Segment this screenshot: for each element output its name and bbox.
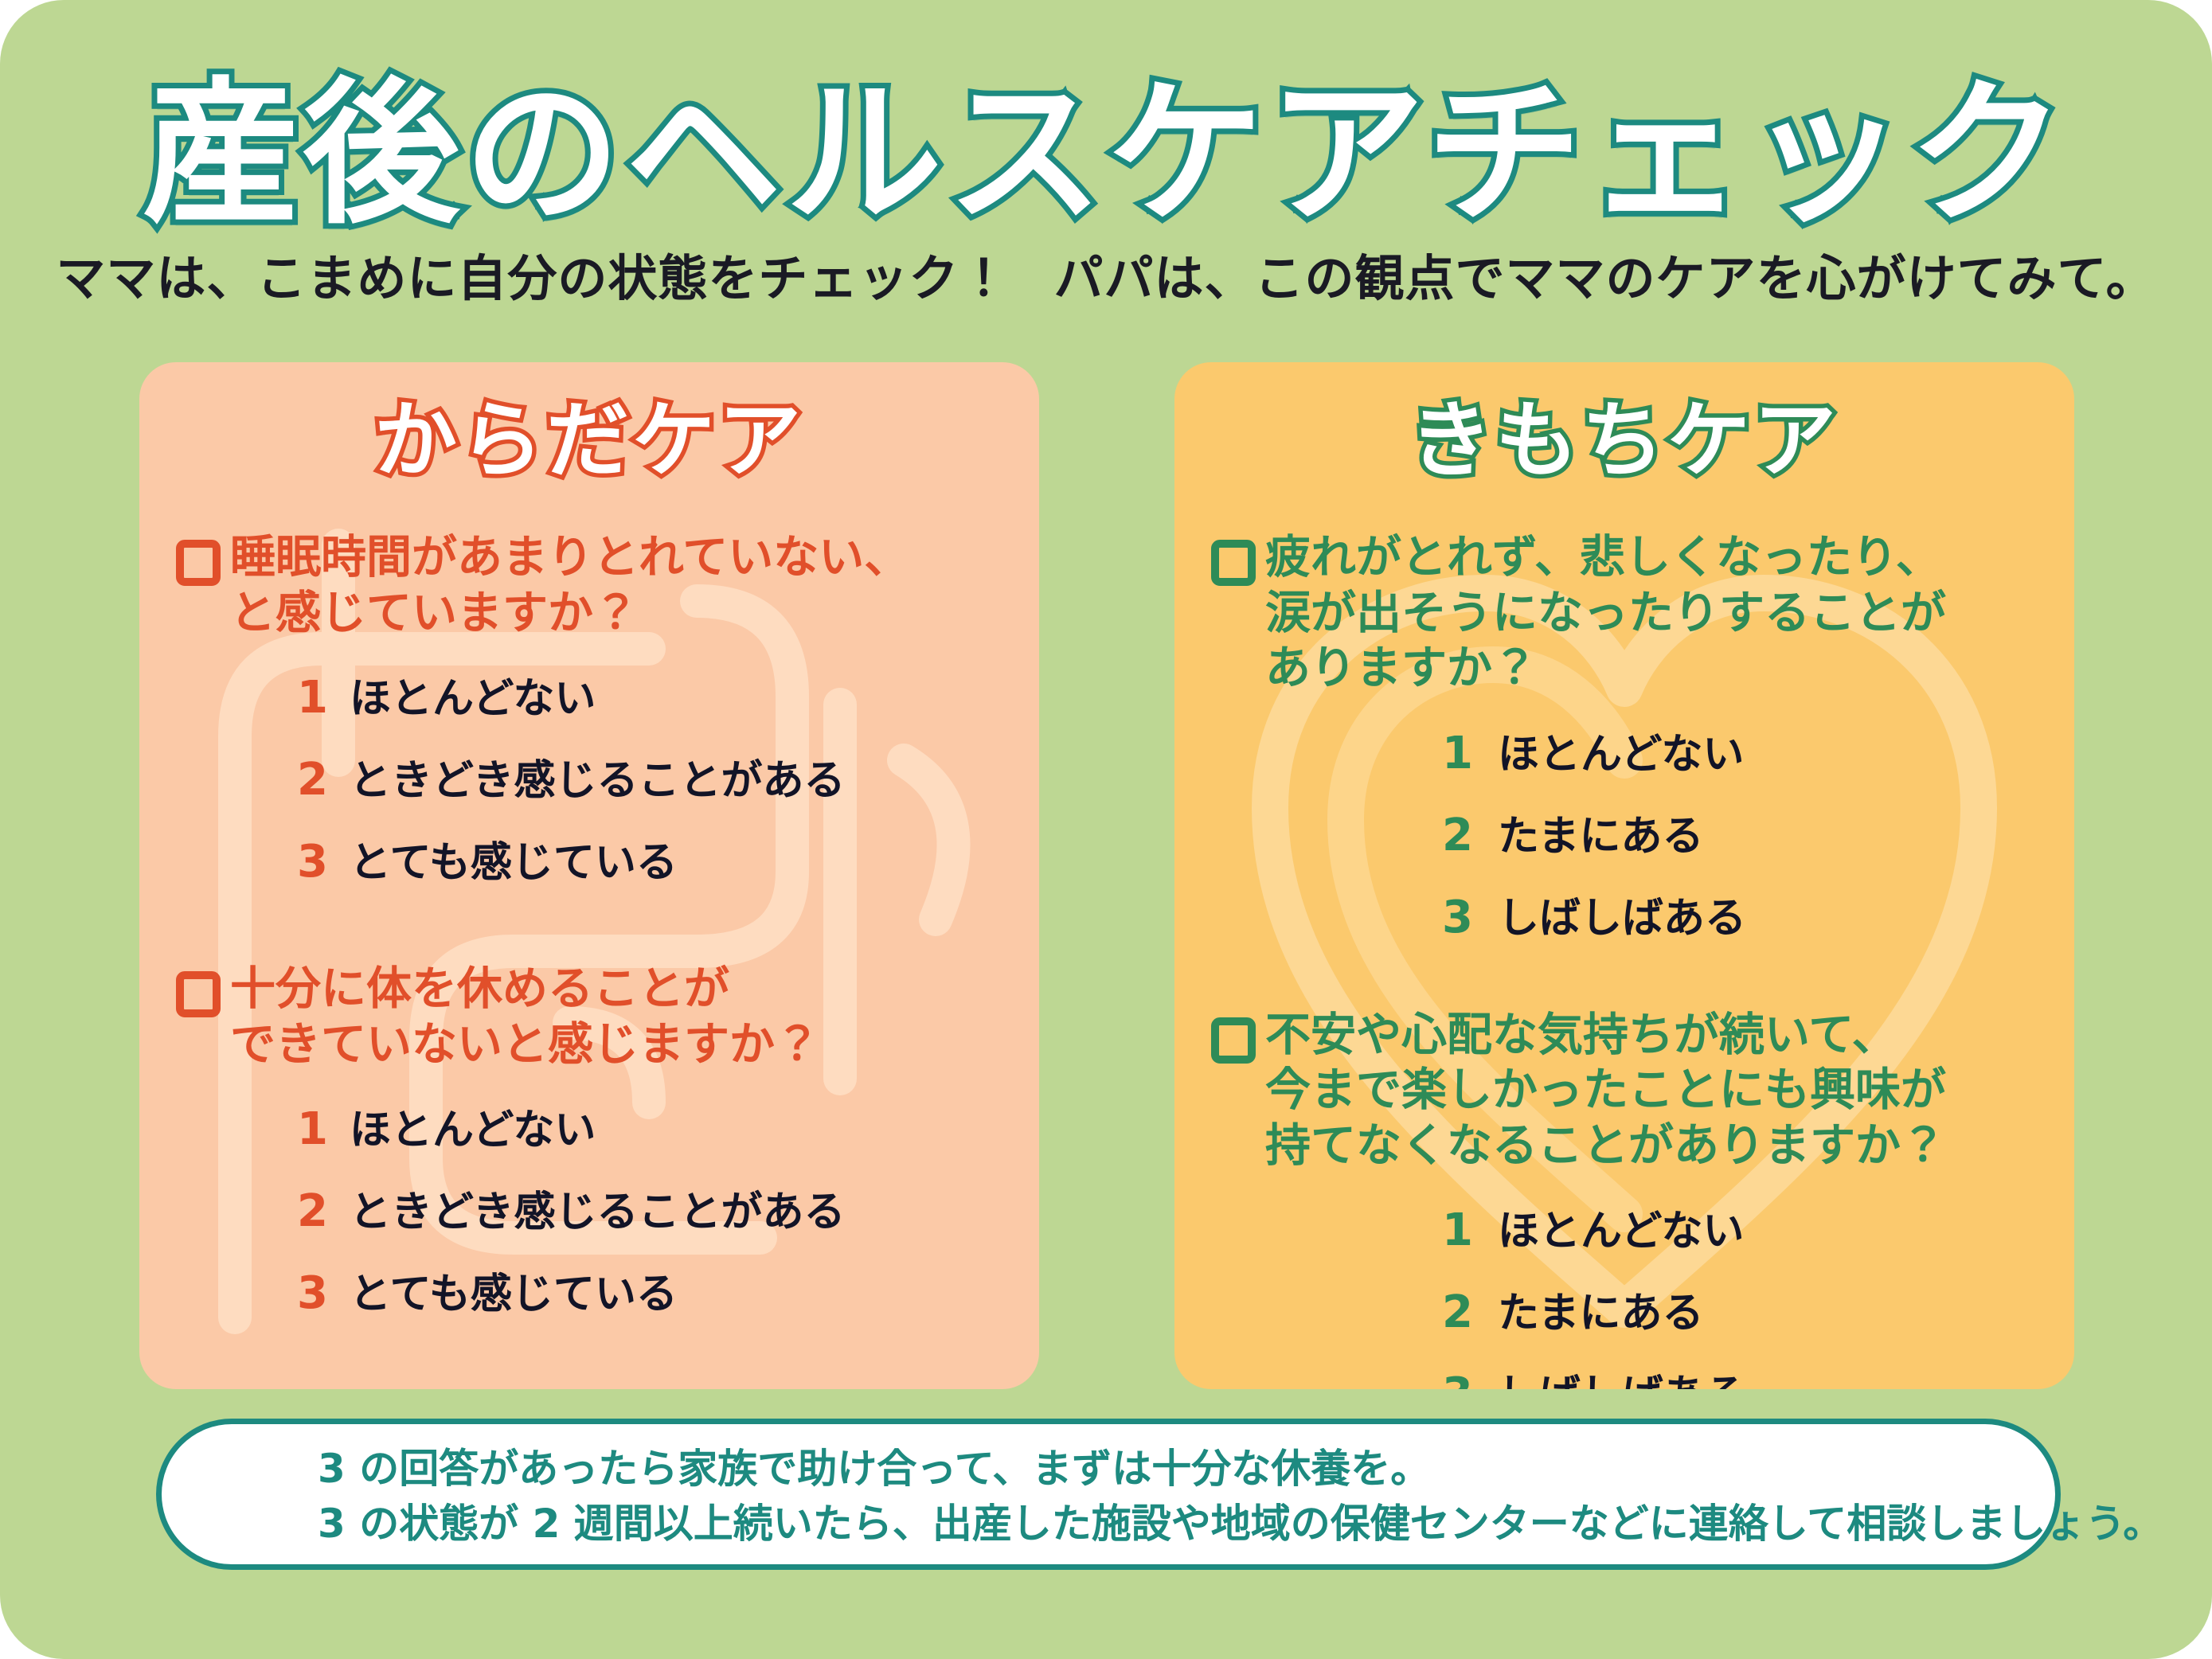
option-label: ときどき感じることがある [350,747,845,806]
option-number: 2 [297,1185,343,1237]
option-item[interactable]: 2 たまにある [1442,1279,2038,1339]
option-item[interactable]: 2 ときどき感じることがある [297,1178,1002,1238]
options-mind-2: 1 ほとんどない 2 たまにある 3 しばしばある [1211,1197,2038,1389]
question-mind-1: 疲れがとれず、悲しくなったり、 涙が出そうになったりすることが ありますか？ [1211,530,2038,697]
option-label: とても感じている [350,829,678,888]
options-body-2: 1 ほとんどない 2 ときどき感じることがある 3 とても感じている [176,1096,1002,1320]
options-mind-1: 1 ほとんどない 2 たまにある 3 しばしばある [1211,720,2038,944]
option-label: たまにある [1498,1279,1703,1339]
question-line: 涙が出そうになったりすることが [1265,586,1946,642]
option-label: ほとんどない [1498,720,1744,780]
option-item[interactable]: 2 たまにある [1442,802,2038,862]
footer-advice-box: 3 の回答があったら家族で助け合って、まずは十分な休養を。 3 の状態が 2 週… [156,1419,2061,1570]
option-number: 2 [297,754,343,806]
option-number: 2 [1442,810,1488,861]
checkbox-empty-icon[interactable] [176,540,221,586]
question-mind-2: 不安や心配な気持ちが続いて、 今まで楽しかったことにも興味が 持てなくなることが… [1211,1008,2038,1174]
poster-root: 産後のヘルスケアチェック ママは、こまめに自分の状態をチェック！パパは、この観点… [0,0,2212,1659]
option-item[interactable]: 3 しばしばある [1442,884,2038,944]
question-body-2-text: 十分に体を休めることが できていないと感じますか？ [230,962,820,1072]
option-label: ときどき感じることがある [350,1178,845,1238]
question-mind-2-text: 不安や心配な気持ちが続いて、 今まで楽しかったことにも興味が 持てなくなることが… [1265,1008,1946,1174]
poster-header: 産後のヘルスケアチェック ママは、こまめに自分の状態をチェック！パパは、この観点… [0,76,2212,306]
option-label: ほとんどない [350,1096,596,1156]
footer-line-1: 3 の回答があったら家族で助け合って、まずは十分な休養を。 [209,1442,2007,1497]
option-label: ほとんどない [350,665,596,724]
card-title-body-care: からだケア [176,397,1002,484]
option-item[interactable]: 2 ときどき感じることがある [297,747,1002,806]
checkbox-empty-icon[interactable] [1211,540,1256,586]
question-line: ありますか？ [1265,641,1946,697]
question-line: 不安や心配な気持ちが続いて、 [1265,1008,1946,1064]
option-item[interactable]: 1 ほとんどない [297,1096,1002,1156]
option-number: 1 [297,672,343,724]
question-line: 持てなくなることがありますか？ [1265,1118,1946,1174]
option-number: 2 [1442,1286,1488,1338]
option-number: 1 [297,1103,343,1155]
option-label: とても感じている [350,1260,678,1320]
question-line: 十分に体を休めることが [230,962,820,1017]
question-body-2: 十分に体を休めることが できていないと感じますか？ [176,962,1002,1072]
card-body-care: からだケア 睡眠時間があまりとれていない、 と感じていますか？ 1 ほとんどない [139,362,1039,1389]
subtitle-mom: ママは、こまめに自分の状態をチェック！ [56,249,1009,307]
page-title: 産後のヘルスケアチェック [0,76,2212,232]
option-number: 1 [1442,1204,1488,1256]
options-body-1: 1 ほとんどない 2 ときどき感じることがある 3 とても感じている [176,665,1002,888]
subtitle-dad: パパは、この観点でママのケアを心がけてみて。 [1053,249,2155,307]
question-line: 睡眠時間があまりとれていない、 [230,530,909,586]
option-number: 1 [1442,728,1488,779]
option-number: 3 [1442,1368,1488,1389]
question-line: できていないと感じますか？ [230,1017,820,1073]
question-body-1-text: 睡眠時間があまりとれていない、 と感じていますか？ [230,530,909,641]
question-body-1: 睡眠時間があまりとれていない、 と感じていますか？ [176,530,1002,641]
question-mind-1-text: 疲れがとれず、悲しくなったり、 涙が出そうになったりすることが ありますか？ [1265,530,1946,697]
question-spacer [176,911,1002,962]
option-number: 3 [297,836,343,888]
card-mind-care: きもちケア 疲れがとれず、悲しくなったり、 涙が出そうになったりすることが あり… [1174,362,2074,1389]
question-line: 疲れがとれず、悲しくなったり、 [1265,530,1946,586]
question-line: と感じていますか？ [230,586,909,642]
option-item[interactable]: 3 しばしばある [1442,1361,2038,1389]
checkbox-empty-icon[interactable] [1211,1017,1256,1064]
option-item[interactable]: 3 とても感じている [297,1260,1002,1320]
option-item[interactable]: 1 ほとんどない [297,665,1002,724]
option-item[interactable]: 3 とても感じている [297,829,1002,888]
card-title-mind-care: きもちケア [1211,397,2038,484]
option-number: 3 [297,1267,343,1319]
page-subtitle: ママは、こまめに自分の状態をチェック！パパは、この観点でママのケアを心がけてみて… [0,252,2212,306]
checkbox-empty-icon[interactable] [176,971,221,1017]
care-cards-row: からだケア 睡眠時間があまりとれていない、 と感じていますか？ 1 ほとんどない [139,362,2074,1389]
footer-line-2: 3 の状態が 2 週間以上続いたら、出産した施設や地域の保健センターなどに連絡し… [209,1497,2007,1552]
question-line: 今まで楽しかったことにも興味が [1265,1063,1946,1118]
option-label: しばしばある [1498,884,1746,944]
question-spacer [1211,966,2038,1008]
option-item[interactable]: 1 ほとんどない [1442,1197,2038,1257]
option-label: しばしばある [1498,1361,1746,1389]
option-label: ほとんどない [1498,1197,1744,1257]
option-number: 3 [1442,892,1488,943]
option-item[interactable]: 1 ほとんどない [1442,720,2038,780]
option-label: たまにある [1498,802,1703,862]
